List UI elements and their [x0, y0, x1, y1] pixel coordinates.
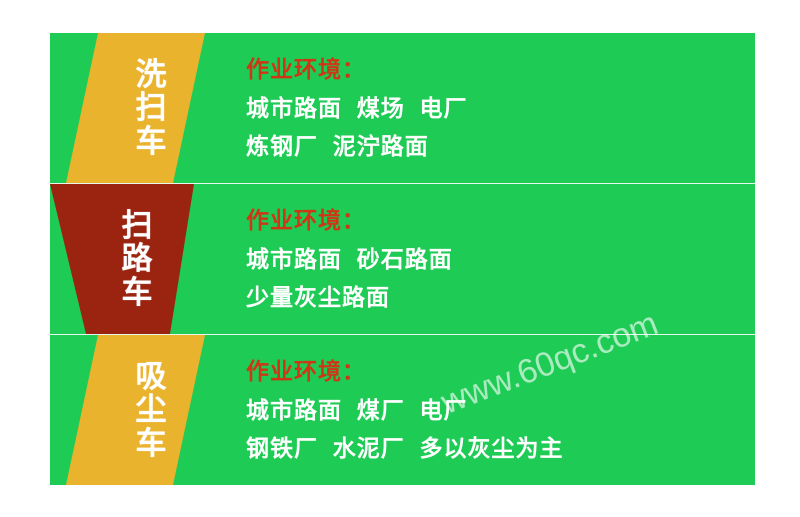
row-divider: [50, 334, 755, 335]
row-label-tab: 吸 尘 车: [50, 335, 205, 485]
row-description: 作业环境： 城市路面 砂石路面 少量灰尘路面: [246, 184, 755, 334]
parallelogram-shape-icon: [50, 335, 205, 485]
row-description: 作业环境： 城市路面 煤场 电厂 炼钢厂 泥泞路面: [246, 33, 755, 183]
row-description: 作业环境： 城市路面 煤厂 电厂 钢铁厂 水泥厂 多以灰尘为主: [246, 335, 755, 485]
row-detail-line: 城市路面 煤厂 电厂: [246, 399, 755, 422]
parallelogram-shape-icon: [50, 184, 205, 334]
parallelogram-shape-icon: [50, 33, 205, 183]
table-row: 扫 路 车 作业环境： 城市路面 砂石路面 少量灰尘路面: [50, 184, 755, 334]
row-detail-line: 少量灰尘路面: [246, 286, 755, 309]
row-detail-line: 城市路面 砂石路面: [246, 248, 755, 271]
table-row: 吸 尘 车 作业环境： 城市路面 煤厂 电厂 钢铁厂 水泥厂 多以灰尘为主: [50, 335, 755, 485]
row-label-tab: 扫 路 车: [50, 184, 205, 334]
row-detail-line: 钢铁厂 水泥厂 多以灰尘为主: [246, 437, 755, 460]
row-heading: 作业环境：: [246, 58, 755, 81]
row-heading: 作业环境：: [246, 360, 755, 383]
table-row: 洗 扫 车 作业环境： 城市路面 煤场 电厂 炼钢厂 泥泞路面: [50, 33, 755, 183]
row-heading: 作业环境：: [246, 209, 755, 232]
vehicle-comparison-infographic: 洗 扫 车 作业环境： 城市路面 煤场 电厂 炼钢厂 泥泞路面 扫 路 车 作业…: [50, 33, 755, 485]
row-detail-line: 城市路面 煤场 电厂: [246, 97, 755, 120]
row-divider: [50, 183, 755, 184]
row-detail-line: 炼钢厂 泥泞路面: [246, 135, 755, 158]
row-label-tab: 洗 扫 车: [50, 33, 205, 183]
